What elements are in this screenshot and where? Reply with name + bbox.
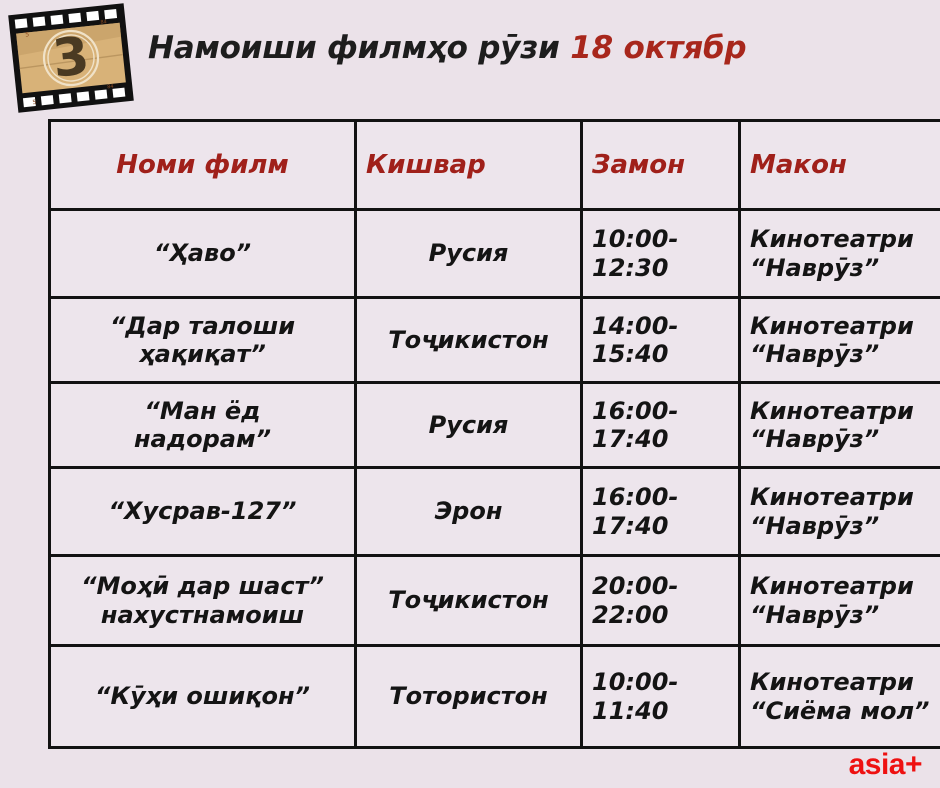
film-title-line-2: надорам” [60, 425, 345, 453]
venue-line-2: “Наврӯз” [750, 601, 940, 629]
column-header-time: Замон [582, 121, 740, 210]
cell-film-title: “Ҳаво” [50, 210, 356, 298]
cell-country: Русия [356, 383, 582, 468]
time-start: 20:00- [592, 572, 729, 600]
venue-line-2: “Наврӯз” [750, 512, 940, 540]
svg-text:84: 84 [100, 19, 107, 26]
column-header-film-title: Номи филм [50, 121, 356, 210]
page-title-date: 18 октябр [570, 30, 746, 66]
cell-time: 14:00- 15:40 [582, 298, 740, 383]
cell-time: 10:00- 11:40 [582, 646, 740, 748]
column-header-venue: Макон [740, 121, 940, 210]
cell-country: Русия [356, 210, 582, 298]
film-title-line-1: “Ҳаво” [60, 239, 345, 267]
time-end: 11:40 [592, 697, 729, 725]
cell-time: 20:00- 22:00 [582, 556, 740, 646]
page-title-main: Намоиши филмҳо рӯзи [148, 30, 560, 66]
time-end: 12:30 [592, 254, 729, 282]
film-title-line-1: “Моҳӣ дар шаст” [60, 572, 345, 600]
cell-film-title: “Моҳӣ дар шаст” нахустнамоиш [50, 556, 356, 646]
venue-line-1: Кинотеатри [750, 483, 940, 511]
cell-film-title: “Хусрав-127” [50, 468, 356, 556]
time-end: 17:40 [592, 512, 729, 540]
cell-venue: Кинотеатри “Наврӯз” [740, 210, 940, 298]
cell-film-title: “Ман ёд надорам” [50, 383, 356, 468]
table-row: “Ҳаво” Русия 10:00- 12:30 Кинотеатри “На… [50, 210, 940, 298]
cell-time: 10:00- 12:30 [582, 210, 740, 298]
table-row: “Моҳӣ дар шаст” нахустнамоиш Тоҷикистон … [50, 556, 940, 646]
table-header: Номи филм Кишвар Замон Макон [50, 121, 940, 210]
cell-film-title: “Кӯҳи ошиқон” [50, 646, 356, 748]
time-start: 14:00- [592, 312, 729, 340]
table-row: “Хусрав-127” Эрон 16:00- 17:40 Кинотеатр… [50, 468, 940, 556]
page-title: Намоиши филмҳо рӯзи 18 октябр [148, 30, 746, 66]
film-title-line-2: нахустнамоиш [60, 601, 345, 629]
time-end: 17:40 [592, 425, 729, 453]
film-title-line-1: “Ман ёд [60, 397, 345, 425]
svg-text:5: 5 [25, 31, 30, 38]
table-header-row: Номи филм Кишвар Замон Макон [50, 121, 940, 210]
venue-line-1: Кинотеатри [750, 312, 940, 340]
cell-film-title: “Дар талоши ҳақиқат” [50, 298, 356, 383]
venue-line-2: “Наврӯз” [750, 340, 940, 368]
asia-plus-logo: asia+ [849, 748, 922, 782]
cell-country: Тоҷикистон [356, 556, 582, 646]
film-schedule-table: Номи филм Кишвар Замон Макон “Ҳаво” Руси… [48, 119, 940, 749]
time-start: 16:00- [592, 397, 729, 425]
venue-line-2: “Наврӯз” [750, 254, 940, 282]
film-title-line-1: “Хусрав-127” [60, 497, 345, 525]
header-bar: 3 5 84 5 84 Намоиши филмҳо рӯзи 18 октяб… [0, 0, 940, 118]
time-start: 10:00- [592, 668, 729, 696]
film-title-line-2: ҳақиқат” [60, 340, 345, 368]
svg-text:5: 5 [32, 99, 37, 106]
cell-time: 16:00- 17:40 [582, 468, 740, 556]
venue-line-2: “Сиёма мол” [750, 697, 940, 725]
cell-venue: Кинотеатри “Наврӯз” [740, 468, 940, 556]
table-row: “Дар талоши ҳақиқат” Тоҷикистон 14:00- 1… [50, 298, 940, 383]
column-header-country: Кишвар [356, 121, 582, 210]
svg-text:84: 84 [107, 84, 114, 91]
venue-line-2: “Наврӯз” [750, 425, 940, 453]
time-start: 10:00- [592, 225, 729, 253]
time-end: 15:40 [592, 340, 729, 368]
cell-country: Эрон [356, 468, 582, 556]
film-title-line-1: “Кӯҳи ошиқон” [60, 682, 345, 710]
film-title-line-1: “Дар талоши [60, 312, 345, 340]
venue-line-1: Кинотеатри [750, 225, 940, 253]
cell-venue: Кинотеатри “Сиёма мол” [740, 646, 940, 748]
time-end: 22:00 [592, 601, 729, 629]
cell-time: 16:00- 17:40 [582, 383, 740, 468]
film-icon-number: 3 [50, 26, 92, 89]
cell-country: Тоҷикистон [356, 298, 582, 383]
venue-line-1: Кинотеатри [750, 668, 940, 696]
table-row: “Кӯҳи ошиқон” Тотористон 10:00- 11:40 Ки… [50, 646, 940, 748]
table-body: “Ҳаво” Русия 10:00- 12:30 Кинотеатри “На… [50, 210, 940, 748]
table-row: “Ман ёд надорам” Русия 16:00- 17:40 Кино… [50, 383, 940, 468]
cell-venue: Кинотеатри “Наврӯз” [740, 556, 940, 646]
film-strip-countdown-icon: 3 5 84 5 84 [7, 2, 135, 114]
cell-venue: Кинотеатри “Наврӯз” [740, 383, 940, 468]
venue-line-1: Кинотеатри [750, 572, 940, 600]
cell-country: Тотористон [356, 646, 582, 748]
cell-venue: Кинотеатри “Наврӯз” [740, 298, 940, 383]
venue-line-1: Кинотеатри [750, 397, 940, 425]
time-start: 16:00- [592, 483, 729, 511]
